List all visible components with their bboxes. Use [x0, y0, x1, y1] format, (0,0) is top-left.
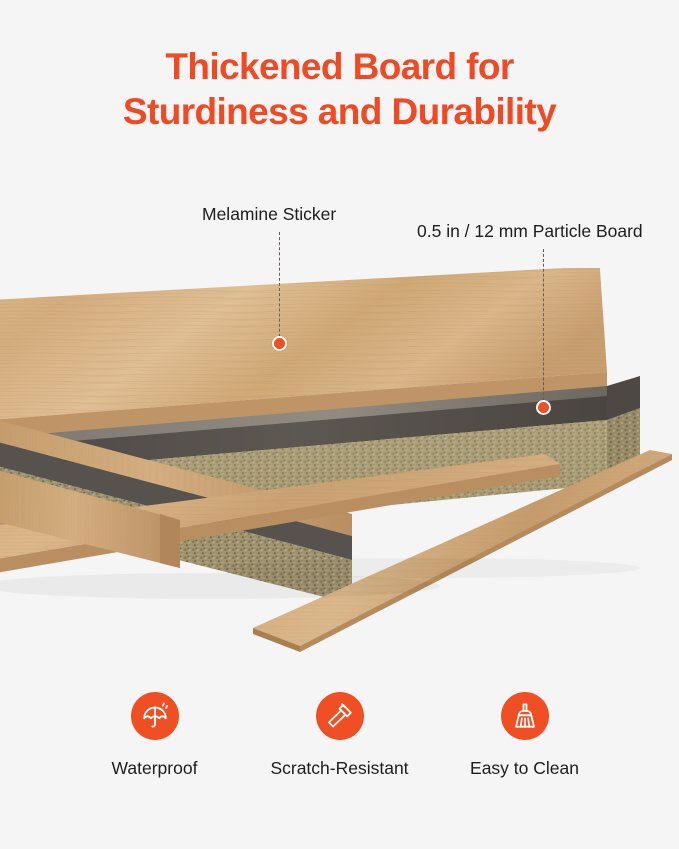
- leader-line-melamine-sticker: [279, 232, 280, 342]
- broom-icon: [501, 692, 549, 740]
- title-line-1: Thickened Board for: [0, 44, 679, 89]
- exploded-board-illustration: [0, 268, 679, 658]
- feature-label-waterproof: Waterproof: [112, 757, 198, 779]
- feature-label-scratch-resistant: Scratch-Resistant: [270, 757, 408, 779]
- title-line-2: Sturdiness and Durability: [0, 89, 679, 134]
- callout-dot-particle-board: [536, 400, 551, 415]
- callout-label-particle-board: 0.5 in / 12 mm Particle Board: [417, 220, 643, 242]
- umbrella-icon: [131, 692, 179, 740]
- leader-line-particle-board: [543, 249, 544, 405]
- page-title: Thickened Board for Sturdiness and Durab…: [0, 44, 679, 134]
- hammer-icon: [316, 692, 364, 740]
- callout-dot-melamine-sticker: [272, 336, 287, 351]
- feature-item-scratch-resistant: Scratch-Resistant: [247, 692, 432, 779]
- feature-list: Waterproof Scratch-Resistant Easy to Cle…: [0, 692, 679, 779]
- feature-label-easy-to-clean: Easy to Clean: [470, 757, 579, 779]
- callout-label-melamine-sticker: Melamine Sticker: [202, 203, 336, 225]
- feature-item-waterproof: Waterproof: [62, 692, 247, 779]
- feature-item-easy-to-clean: Easy to Clean: [432, 692, 617, 779]
